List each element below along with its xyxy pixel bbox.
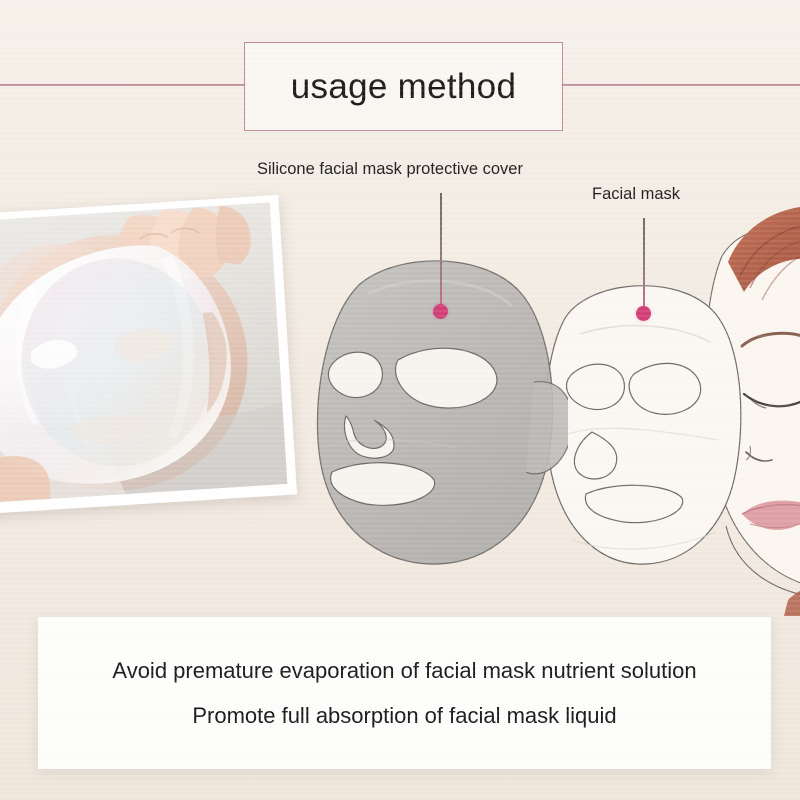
product-photo-inset	[0, 195, 297, 515]
callout-label-silicone-cover: Silicone facial mask protective cover	[257, 161, 523, 178]
benefit-line-2: Promote full absorption of facial mask l…	[192, 705, 616, 727]
callout-dot-silicone-cover	[433, 304, 448, 319]
benefits-card: Avoid premature evaporation of facial ma…	[38, 617, 771, 769]
infographic-page: usage method	[0, 0, 800, 800]
callout-label-facial-mask: Facial mask	[592, 186, 680, 203]
header-rule-right	[561, 84, 800, 86]
callout-leader-facial-mask	[643, 218, 645, 310]
title-box: usage method	[244, 42, 563, 131]
page-title: usage method	[291, 69, 516, 104]
photo-illustration	[0, 202, 287, 503]
header-rule-left	[0, 84, 246, 86]
silicone-cover-mask	[298, 250, 568, 580]
callout-leader-silicone-cover	[440, 193, 442, 307]
benefit-line-1: Avoid premature evaporation of facial ma…	[112, 660, 696, 682]
photo-frame	[0, 202, 287, 503]
callout-dot-facial-mask	[636, 306, 651, 321]
